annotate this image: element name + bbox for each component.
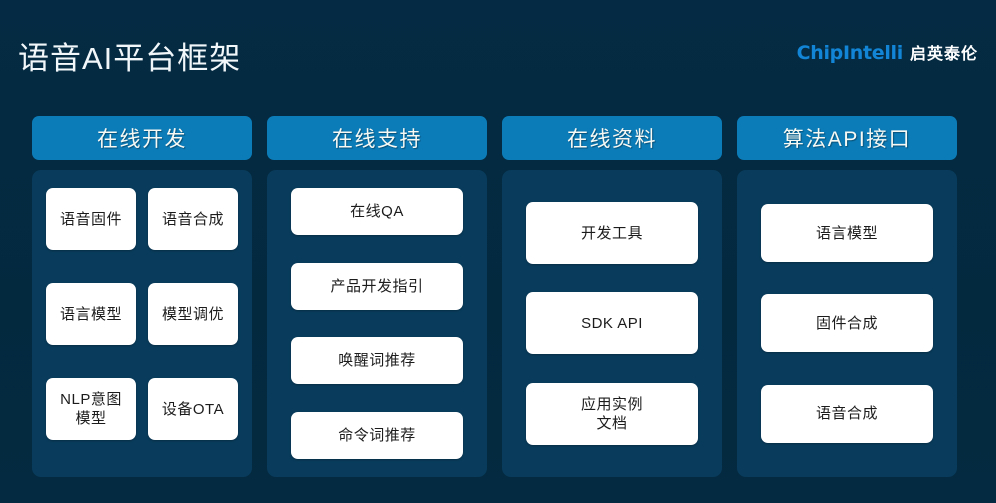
card-item[interactable]: 应用实例 文档	[526, 383, 698, 445]
card-stack: 语言模型 固件合成 语音合成	[751, 188, 943, 459]
card-item[interactable]: 开发工具	[526, 202, 698, 264]
card-item[interactable]: 固件合成	[761, 294, 933, 352]
column-algorithm-api: 算法API接口 语言模型 固件合成 语音合成	[737, 116, 957, 477]
card-item[interactable]: SDK API	[526, 292, 698, 354]
card-item[interactable]: 语言模型	[761, 204, 933, 262]
card-item[interactable]: 唤醒词推荐	[291, 337, 463, 384]
card-item[interactable]: 命令词推荐	[291, 412, 463, 459]
card-item[interactable]: 产品开发指引	[291, 263, 463, 310]
card-stack: 在线QA 产品开发指引 唤醒词推荐 命令词推荐	[281, 188, 473, 459]
card-item[interactable]: 语音合成	[761, 385, 933, 443]
card-item[interactable]: 在线QA	[291, 188, 463, 235]
card-item[interactable]: NLP意图 模型	[46, 378, 136, 440]
column-header-algorithm-api[interactable]: 算法API接口	[737, 116, 957, 160]
column-online-resources: 在线资料 开发工具 SDK API 应用实例 文档	[502, 116, 722, 477]
brand-name-cn: 启英泰伦	[910, 40, 978, 64]
column-online-development: 在线开发 语音固件 语音合成 语言模型 模型调优 NLP意图 模型 设备OTA	[32, 116, 252, 477]
column-header-online-development[interactable]: 在线开发	[32, 116, 252, 160]
card-item[interactable]: 语言模型	[46, 283, 136, 345]
column-panel-online-support: 在线QA 产品开发指引 唤醒词推荐 命令词推荐	[267, 170, 487, 477]
page-title: 语音AI平台框架	[18, 40, 241, 78]
columns-container: 在线开发 语音固件 语音合成 语言模型 模型调优 NLP意图 模型 设备OTA …	[32, 116, 957, 477]
column-header-online-resources[interactable]: 在线资料	[502, 116, 722, 160]
column-header-online-support[interactable]: 在线支持	[267, 116, 487, 160]
card-item[interactable]: 语音固件	[46, 188, 136, 250]
card-stack: 开发工具 SDK API 应用实例 文档	[516, 188, 708, 459]
card-item[interactable]: 设备OTA	[148, 378, 238, 440]
column-online-support: 在线支持 在线QA 产品开发指引 唤醒词推荐 命令词推荐	[267, 116, 487, 477]
column-panel-algorithm-api: 语言模型 固件合成 语音合成	[737, 170, 957, 477]
card-item[interactable]: 模型调优	[148, 283, 238, 345]
column-panel-online-development: 语音固件 语音合成 语言模型 模型调优 NLP意图 模型 设备OTA	[32, 170, 252, 477]
card-grid: 语音固件 语音合成 语言模型 模型调优 NLP意图 模型 设备OTA	[46, 188, 238, 459]
brand-logo: ChipIntelli 启英泰伦	[797, 40, 978, 64]
brand-name-en: ChipIntelli	[797, 42, 903, 64]
card-item[interactable]: 语音合成	[148, 188, 238, 250]
slide-root: 语音AI平台框架 ChipIntelli 启英泰伦 在线开发 语音固件 语音合成…	[0, 0, 996, 503]
column-panel-online-resources: 开发工具 SDK API 应用实例 文档	[502, 170, 722, 477]
